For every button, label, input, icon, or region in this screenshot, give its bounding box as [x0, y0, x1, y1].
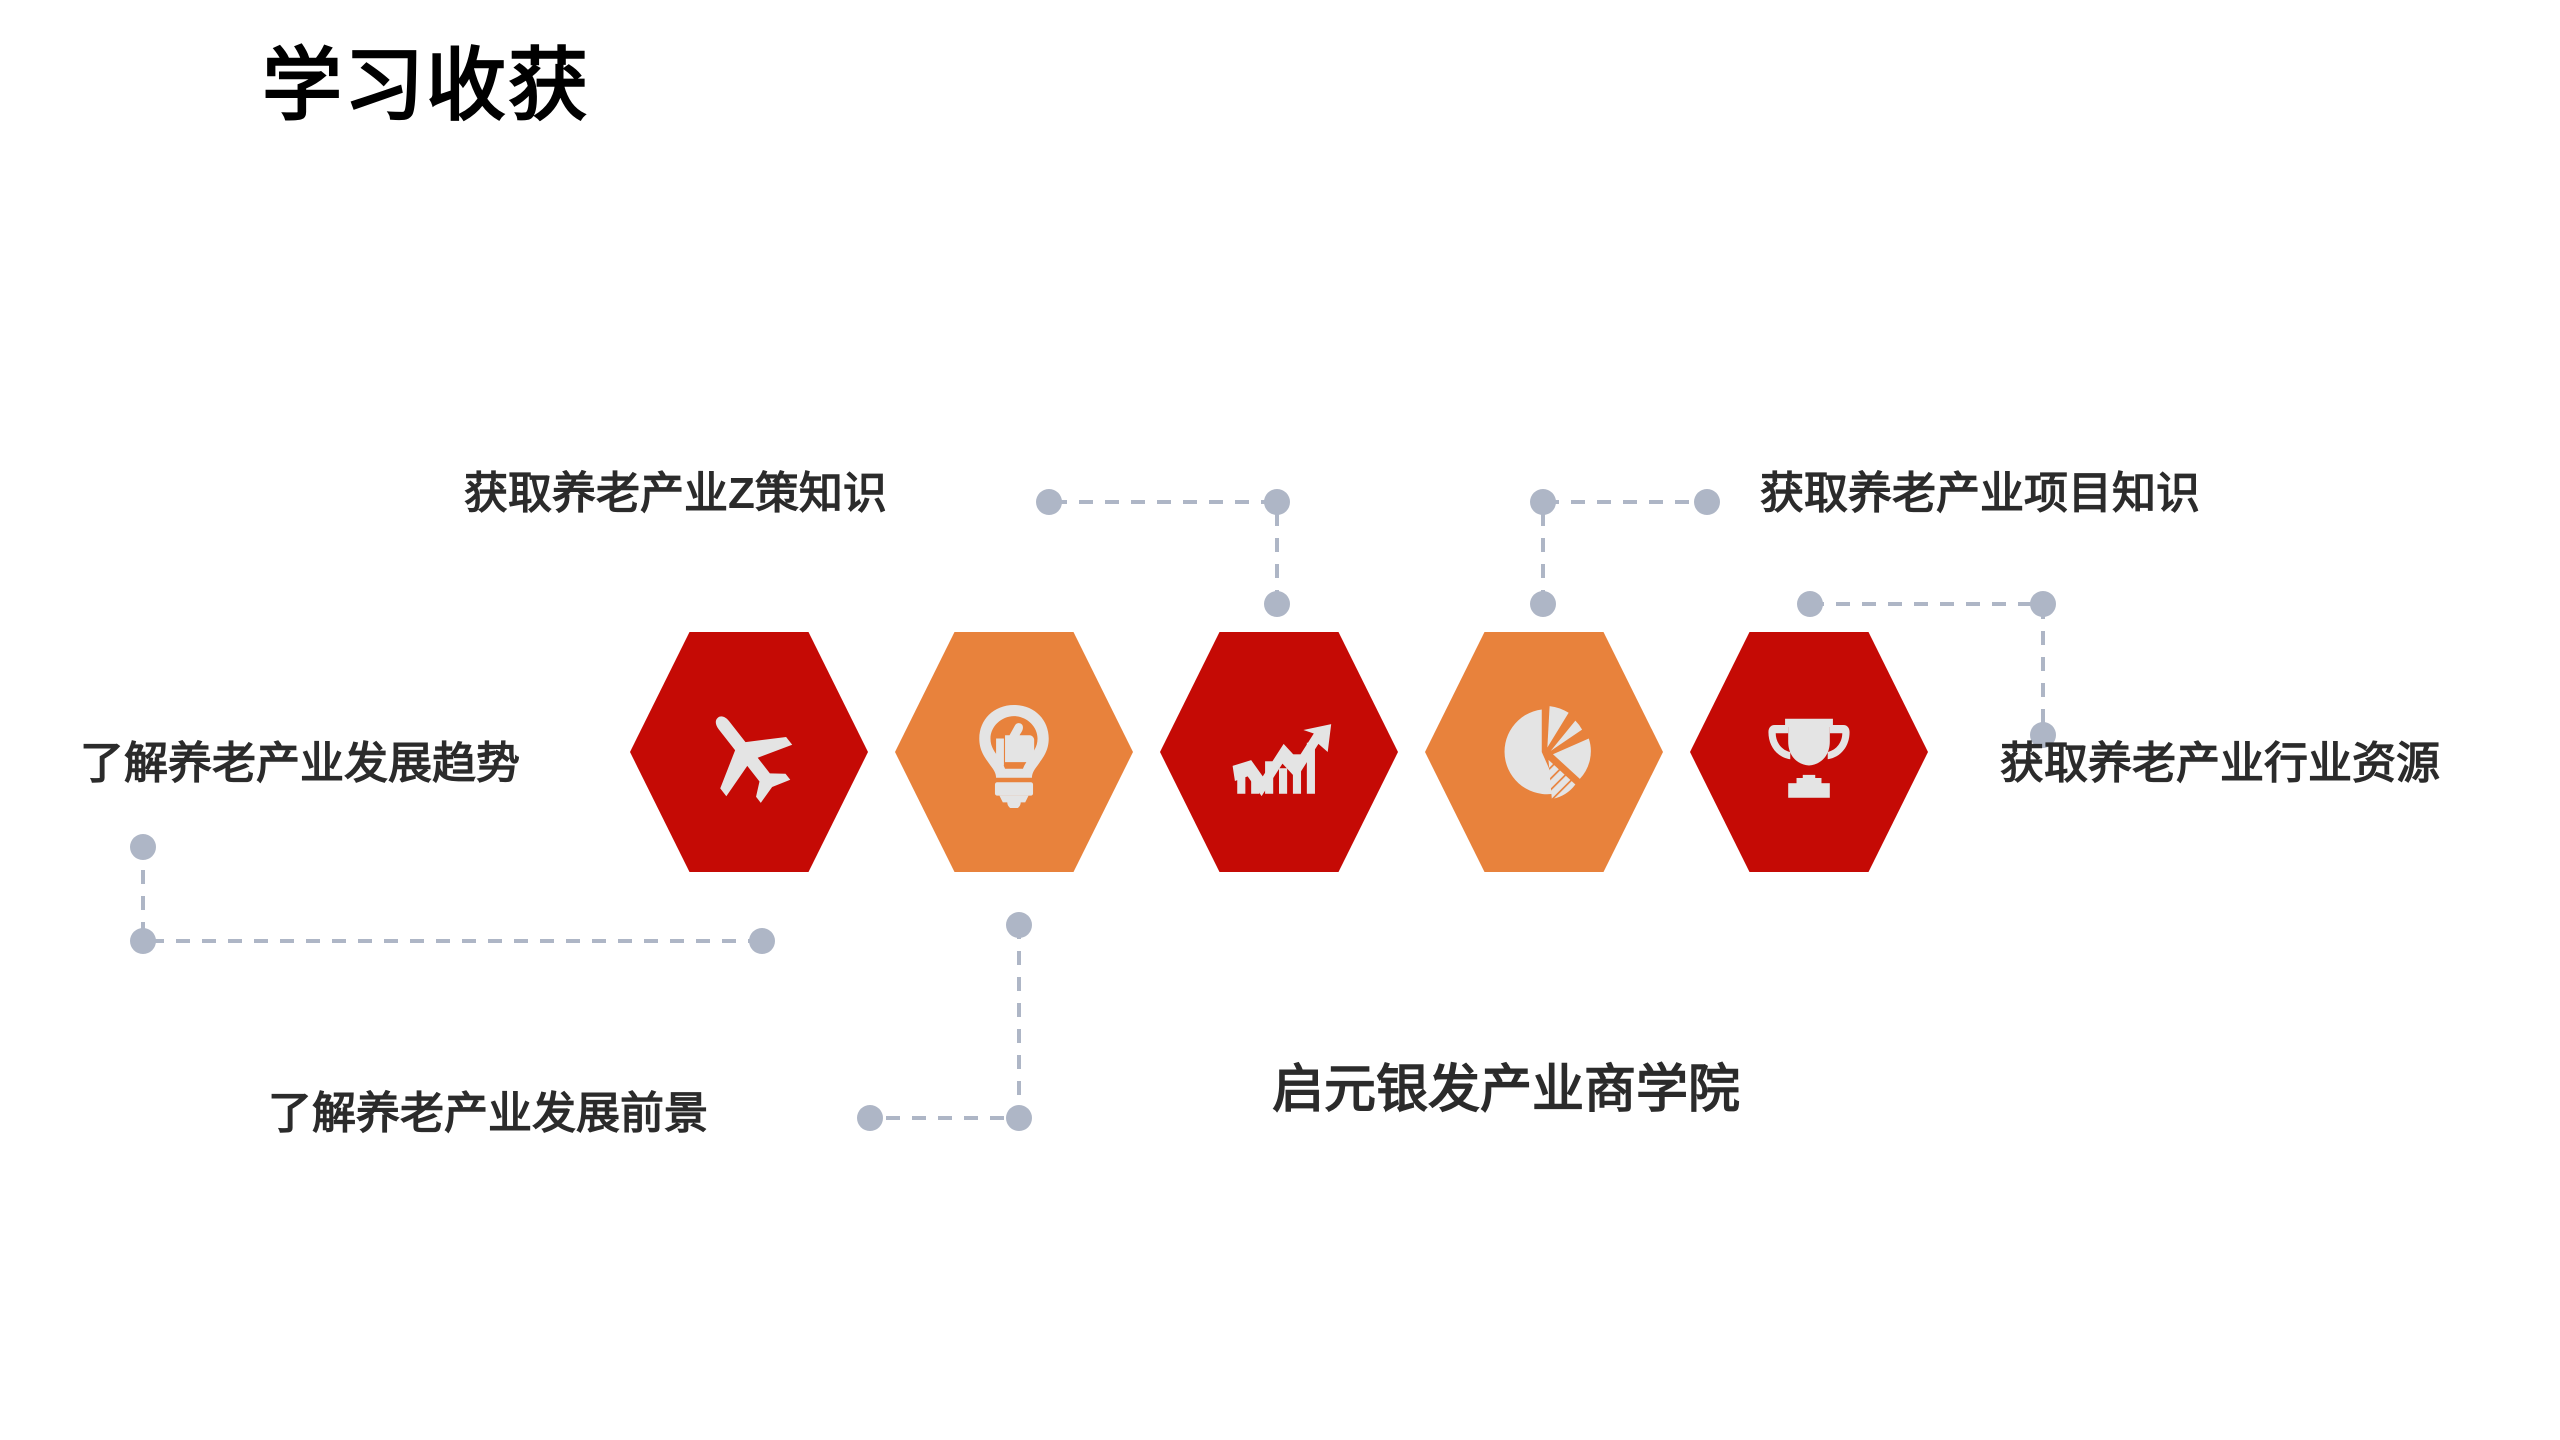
lightbulb-thumbsup-icon	[958, 696, 1070, 808]
connector-dot	[1006, 1105, 1032, 1131]
connector-dot	[1006, 912, 1032, 938]
connector-dot	[1530, 591, 1556, 617]
connector-dot	[857, 1105, 883, 1131]
connector-dot	[1530, 489, 1556, 515]
hexagon-lightbulb[interactable]	[895, 632, 1133, 872]
label-dev-prospect: 了解养老产业发展前景	[268, 1090, 708, 1138]
trophy-icon	[1757, 700, 1861, 804]
connector-dot	[1797, 591, 1823, 617]
growth-chart-icon	[1221, 694, 1337, 810]
connector-dot	[1264, 489, 1290, 515]
label-policy-knowledge: 获取养老产业Z策知识	[464, 470, 887, 518]
label-industry-resource: 获取养老产业行业资源	[2000, 740, 2440, 788]
label-project-knowledge: 获取养老产业项目知识	[1760, 470, 2200, 518]
pie-chart-icon	[1488, 696, 1600, 808]
hexagon-row	[630, 632, 1930, 872]
connector-dot	[1264, 591, 1290, 617]
slide-canvas: 学习收获	[0, 0, 2560, 1440]
connector-dot	[2030, 591, 2056, 617]
hexagon-pie-chart[interactable]	[1425, 632, 1663, 872]
title-accent-bar-wide	[0, 70, 178, 110]
connector-hex4	[1543, 502, 1707, 604]
brand-name: 启元银发产业商学院	[1272, 1062, 1740, 1119]
hexagon-growth-chart[interactable]	[1160, 632, 1398, 872]
connector-hex2	[870, 925, 1019, 1118]
connector-hex3	[1049, 502, 1277, 604]
title-accent-bar-narrow	[196, 70, 225, 110]
connector-dot	[749, 928, 775, 954]
label-dev-trend: 了解养老产业发展趋势	[80, 740, 520, 788]
hexagon-airplane[interactable]	[630, 632, 868, 872]
connector-dot	[130, 834, 156, 860]
connector-dot	[1694, 489, 1720, 515]
page-title: 学习收获	[262, 46, 590, 126]
airplane-icon	[694, 697, 804, 807]
connector-dot	[1036, 489, 1062, 515]
connector-dot	[130, 928, 156, 954]
hexagon-trophy[interactable]	[1690, 632, 1928, 872]
